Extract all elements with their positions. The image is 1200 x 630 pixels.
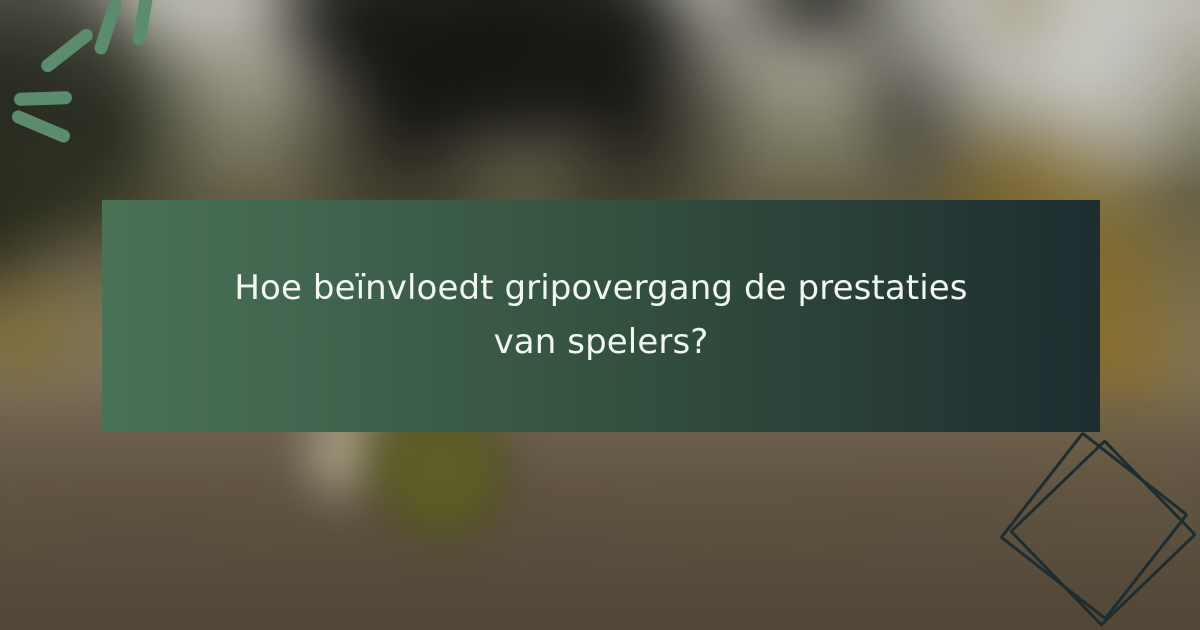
social-share-card: Hoe beïnvloedt gripovergang de prestatie…: [0, 0, 1200, 630]
page-title: Hoe beïnvloedt gripovergang de prestatie…: [221, 262, 981, 369]
diamond-outline-back: [1011, 441, 1195, 625]
sunburst-ray-2: [10, 108, 72, 144]
sunburst-ray-5: [132, 0, 155, 46]
sunburst-ray-3: [39, 26, 96, 74]
sunburst-icon: [0, 0, 200, 180]
diamond-outline-front: [1001, 433, 1186, 618]
title-banner: Hoe beïnvloedt gripovergang de prestatie…: [102, 200, 1100, 432]
sunburst-ray-4: [93, 0, 123, 56]
sunburst-ray-1: [14, 91, 72, 106]
diamond-outline-decoration: [980, 420, 1200, 630]
